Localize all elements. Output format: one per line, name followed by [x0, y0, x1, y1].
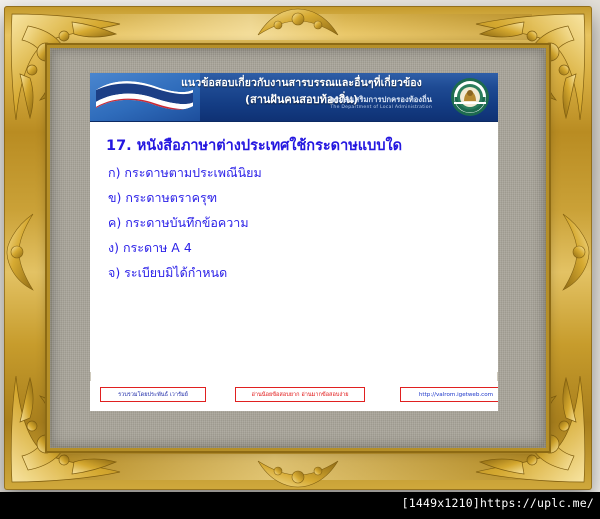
department-name-thai: กรมส่งเสริมการปกครองท้องถิ่น	[330, 95, 432, 104]
page-header-banner: แนวข้อสอบเกี่ยวกับงานสารบรรณและอื่นๆที่เ…	[90, 73, 498, 122]
banner-title: แนวข้อสอบเกี่ยวกับงานสารบรรณและอื่นๆที่เ…	[174, 77, 429, 90]
answer-choice-kho[interactable]: ค) กระดาษบันทึกข้อความ	[108, 210, 484, 235]
footer-slogan-box: อ่านน้อยข้อสอบยาก อ่านมากข้อสอบง่าย	[235, 387, 365, 402]
frame-center-ornament-bottom	[248, 455, 348, 489]
frame-center-ornament-left	[5, 206, 39, 298]
watermark-bar: [1449x1210]https://uplc.me/	[0, 492, 600, 519]
frame-bottom-rail-sheen	[64, 454, 532, 480]
answer-choice-cho[interactable]: จ) ระเบียบมิได้กำหนด	[108, 260, 484, 285]
screenshot-canvas: แนวข้อสอบเกี่ยวกับงานสารบรรณและอื่นๆที่เ…	[0, 0, 600, 519]
answer-choice-ka[interactable]: ก) กระดาษตามประเพณีนิยม	[108, 160, 484, 185]
footer-url-box[interactable]: http://valrom.igetweb.com	[400, 387, 498, 402]
question-body: 17. หนังสือภาษาต่างประเทศใช้กระดาษแบบใด …	[90, 122, 498, 372]
question-title: 17. หนังสือภาษาต่างประเทศใช้กระดาษแบบใด	[106, 136, 484, 156]
frame-top-rail-sheen	[64, 14, 532, 40]
footer-credit-box: รวบรวมโดยประพันธ์ เวารัมย์	[100, 387, 206, 402]
department-emblem-icon	[450, 77, 490, 117]
exam-question-page: แนวข้อสอบเกี่ยวกับงานสารบรรณและอื่นๆที่เ…	[90, 73, 498, 411]
answer-choice-ngo[interactable]: ง) กระดาษ A 4	[108, 235, 484, 260]
frame-center-ornament-right	[557, 206, 591, 298]
frame-center-ornament-top	[248, 7, 348, 41]
watermark-text: [1449x1210]https://uplc.me/	[402, 496, 594, 510]
answer-choice-kha[interactable]: ข) กระดาษตราครุฑ	[108, 185, 484, 210]
page-footer: รวบรวมโดยประพันธ์ เวารัมย์ อ่านน้อยข้อสอ…	[90, 381, 498, 411]
department-name-english: The Department of Local Administration	[330, 104, 432, 111]
department-name-block: กรมส่งเสริมการปกครองท้องถิ่น The Departm…	[330, 95, 432, 111]
